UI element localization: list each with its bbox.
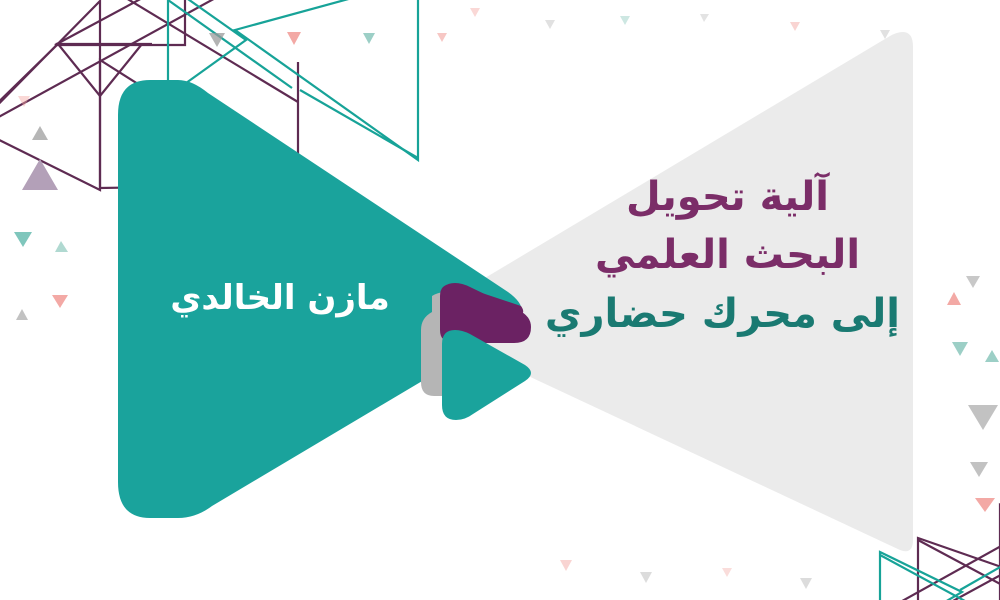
title-line-3: إلى محرك حضاري — [555, 285, 900, 343]
title-line-1: آلية تحويل — [555, 168, 900, 226]
title-slide: آلية تحويل البحث العلمي إلى محرك حضاري م… — [0, 0, 1000, 600]
slide-title: آلية تحويل البحث العلمي إلى محرك حضاري — [555, 168, 900, 343]
logo-teal-triangle — [442, 330, 531, 420]
presenter-name: مازن الخالدي — [130, 278, 430, 319]
title-line-2: البحث العلمي — [555, 226, 900, 284]
presenter-block: مازن الخالدي — [130, 278, 430, 319]
